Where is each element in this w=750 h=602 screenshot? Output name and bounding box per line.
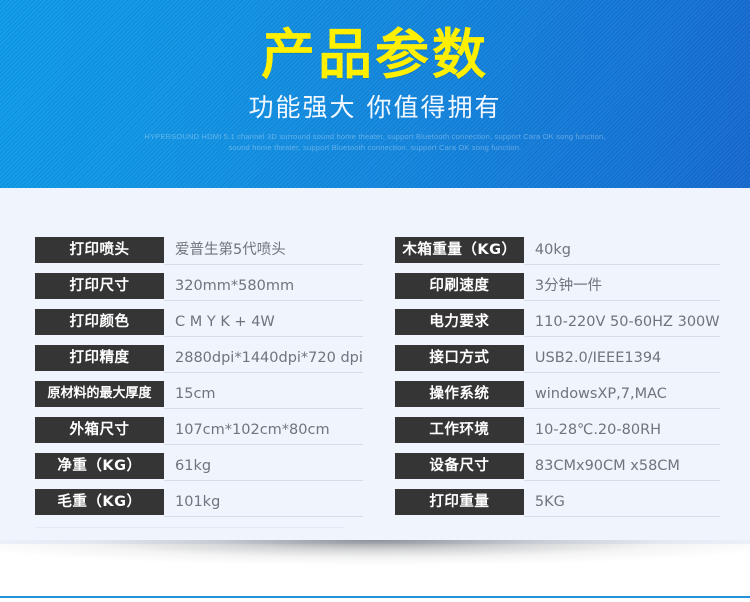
spec-label: 净重（KG） [35, 453, 164, 479]
page-title: 产品参数 [0, 0, 750, 83]
spec-columns: 打印喷头 爱普生第5代喷头 打印尺寸 320mm*580mm 打印颜色 C M … [0, 188, 750, 525]
spec-label: 打印喷头 [35, 237, 164, 263]
spec-value: C M Y K + 4W [164, 309, 363, 337]
spec-row: 打印喷头 爱普生第5代喷头 [35, 237, 392, 273]
hero-banner-content: 产品参数 功能强大 你值得拥有 HYPERSOUND HDMI 5.1 chan… [0, 0, 750, 154]
spec-value: USB2.0/IEEE1394 [524, 345, 720, 373]
spec-row: 工作环境 10-28℃.20-80RH [395, 417, 750, 453]
spec-row: 木箱重量（KG） 40kg [395, 237, 750, 273]
spec-row: 接口方式 USB2.0/IEEE1394 [395, 345, 750, 381]
spec-column-left: 打印喷头 爱普生第5代喷头 打印尺寸 320mm*580mm 打印颜色 C M … [0, 188, 392, 525]
spec-row: 打印颜色 C M Y K + 4W [35, 309, 392, 345]
spec-value: 3分钟一件 [524, 273, 720, 301]
bottom-divider [0, 596, 750, 598]
column-tail-divider [35, 527, 345, 528]
spec-row: 打印尺寸 320mm*580mm [35, 273, 392, 309]
spec-row: 外箱尺寸 107cm*102cm*80cm [35, 417, 392, 453]
spec-row: 打印精度 2880dpi*1440dpi*720 dpi [35, 345, 392, 381]
spec-label: 接口方式 [395, 345, 524, 371]
spec-row: 毛重（KG） 101kg [35, 489, 392, 525]
spec-label: 设备尺寸 [395, 453, 524, 479]
spec-value: windowsXP,7,MAC [524, 381, 720, 409]
spec-value: 320mm*580mm [164, 273, 363, 301]
hero-banner: 产品参数 功能强大 你值得拥有 HYPERSOUND HDMI 5.1 chan… [0, 0, 750, 188]
spec-label: 打印颜色 [35, 309, 164, 335]
spec-row: 原材料的最大厚度 15cm [35, 381, 392, 417]
spec-row: 操作系统 windowsXP,7,MAC [395, 381, 750, 417]
spec-value: 爱普生第5代喷头 [164, 237, 363, 265]
spec-panel: 打印喷头 爱普生第5代喷头 打印尺寸 320mm*580mm 打印颜色 C M … [0, 188, 750, 544]
spec-row: 净重（KG） 61kg [35, 453, 392, 489]
spec-value: 40kg [524, 237, 720, 265]
spec-label: 打印重量 [395, 489, 524, 515]
spec-label: 外箱尺寸 [35, 417, 164, 443]
spec-value: 5KG [524, 489, 720, 517]
spec-column-right: 木箱重量（KG） 40kg 印刷速度 3分钟一件 电力要求 110-220V 5… [392, 188, 750, 525]
spec-label: 工作环境 [395, 417, 524, 443]
spec-value: 15cm [164, 381, 363, 409]
spec-value: 107cm*102cm*80cm [164, 417, 363, 445]
spec-label: 木箱重量（KG） [395, 237, 524, 263]
spec-value: 10-28℃.20-80RH [524, 417, 720, 445]
page-subtitle: 功能强大 你值得拥有 [0, 83, 750, 123]
spec-label: 印刷速度 [395, 273, 524, 299]
spec-value: 83CMx90CM x58CM [524, 453, 720, 481]
spec-row: 电力要求 110-220V 50-60HZ 300W [395, 309, 750, 345]
spec-label: 电力要求 [395, 309, 524, 335]
spec-label: 操作系统 [395, 381, 524, 407]
product-spec-page: 产品参数 功能强大 你值得拥有 HYPERSOUND HDMI 5.1 chan… [0, 0, 750, 602]
spec-label: 毛重（KG） [35, 489, 164, 515]
spec-value: 2880dpi*1440dpi*720 dpi [164, 345, 363, 373]
spec-row: 打印重量 5KG [395, 489, 750, 525]
spec-label: 原材料的最大厚度 [35, 381, 164, 407]
banner-description: HYPERSOUND HDMI 5.1 channel 3D surround … [140, 123, 610, 154]
spec-value: 110-220V 50-60HZ 300W [524, 309, 720, 337]
spec-value: 101kg [164, 489, 363, 517]
spec-row: 设备尺寸 83CMx90CM x58CM [395, 453, 750, 489]
spec-row: 印刷速度 3分钟一件 [395, 273, 750, 309]
spec-label: 打印尺寸 [35, 273, 164, 299]
spec-label: 打印精度 [35, 345, 164, 371]
spec-value: 61kg [164, 453, 363, 481]
